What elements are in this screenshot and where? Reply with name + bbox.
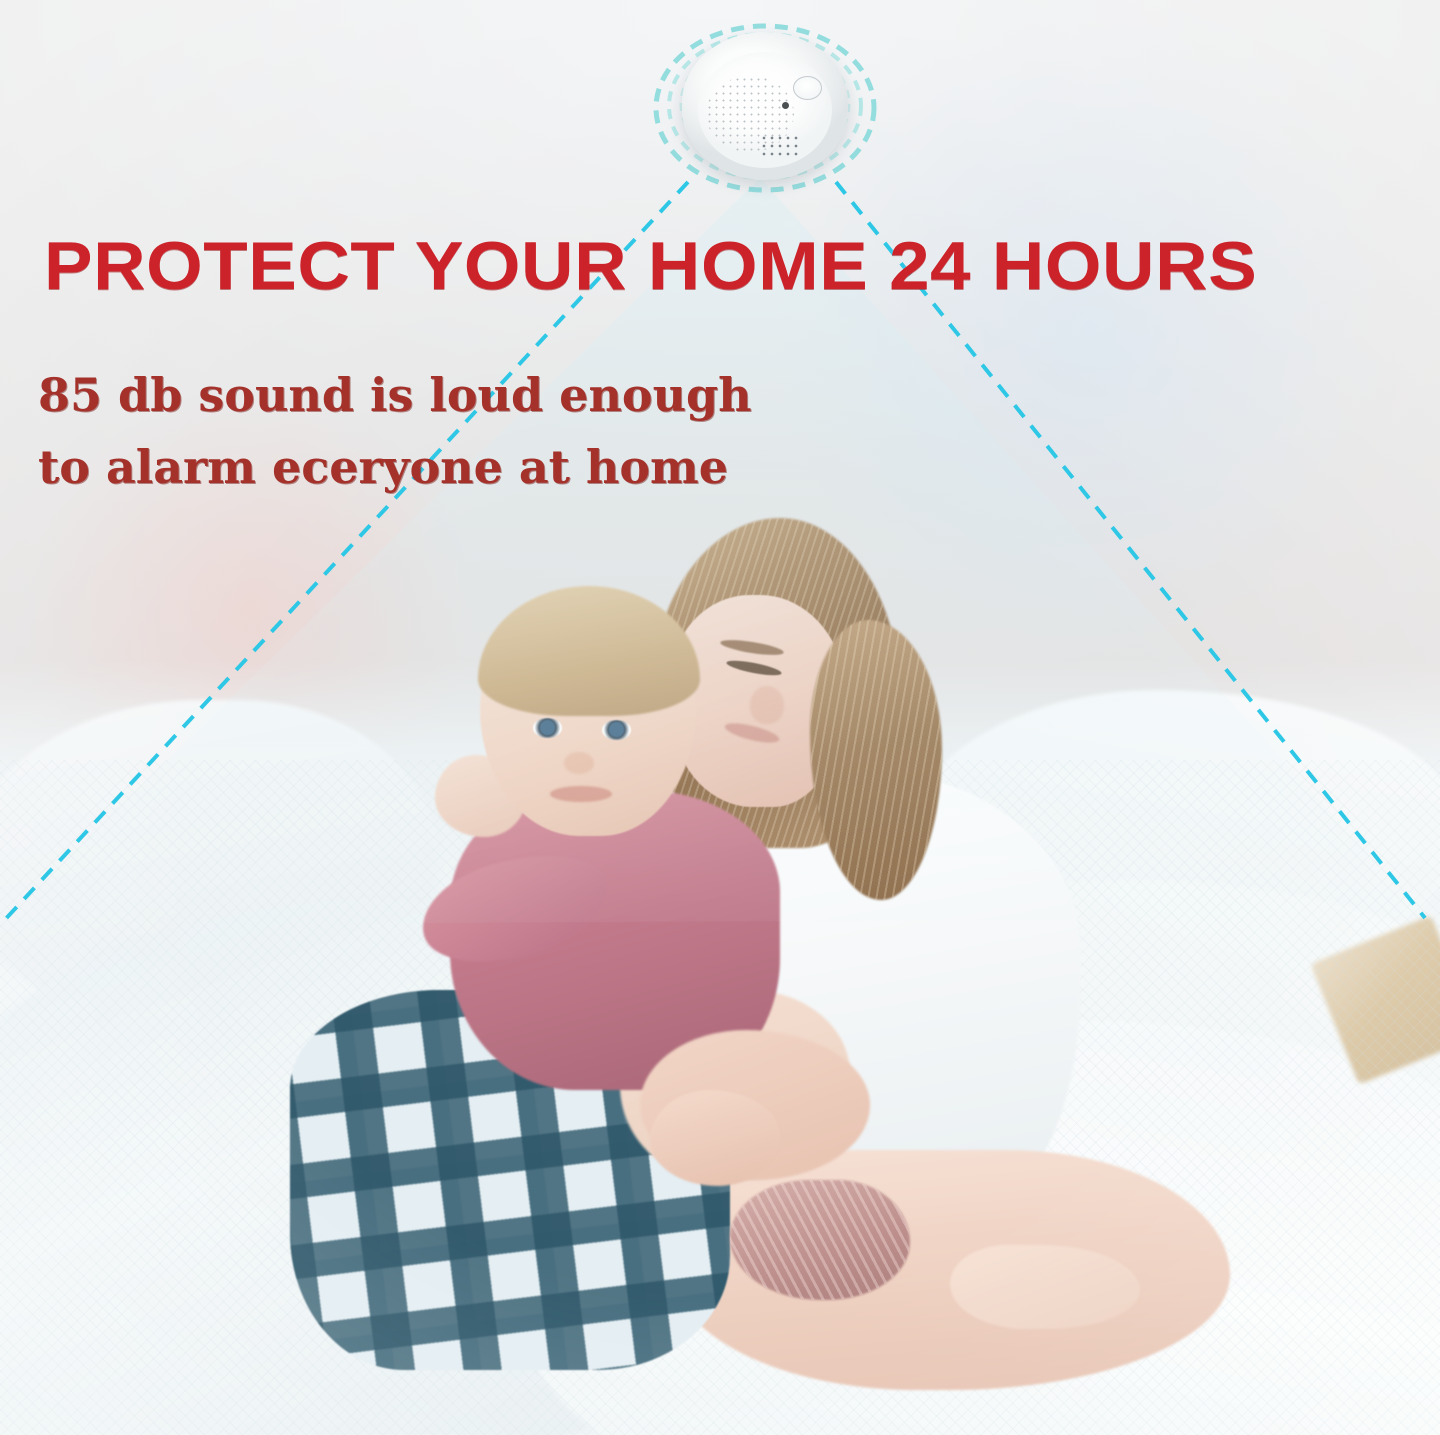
detector-speaker-holes <box>760 134 798 158</box>
baby-mouth <box>550 786 612 802</box>
baby-eye-left <box>533 718 562 738</box>
baby-nose <box>564 752 594 774</box>
mother-nose <box>750 686 784 724</box>
subtitle-line-1: 85 db sound is loud enough <box>38 372 752 418</box>
baby-eye-right <box>602 720 631 740</box>
baby-hair <box>478 586 700 716</box>
smoke-detector-device <box>650 18 880 193</box>
mother-bare-foot <box>950 1245 1140 1329</box>
mother-and-baby <box>250 490 1070 1320</box>
subtitle-line-2: to alarm eceryone at home <box>38 444 728 490</box>
detector-status-led <box>782 102 789 109</box>
page-title: PROTECT YOUR HOME 24 HOURS <box>44 232 1257 300</box>
detector-test-button[interactable] <box>793 76 822 100</box>
product-marketing-poster: PROTECT YOUR HOME 24 HOURS 85 db sound i… <box>0 0 1440 1435</box>
baby-bootie-knit-texture <box>730 1180 910 1300</box>
detector-face <box>698 52 832 168</box>
mother-hand <box>650 1090 780 1186</box>
